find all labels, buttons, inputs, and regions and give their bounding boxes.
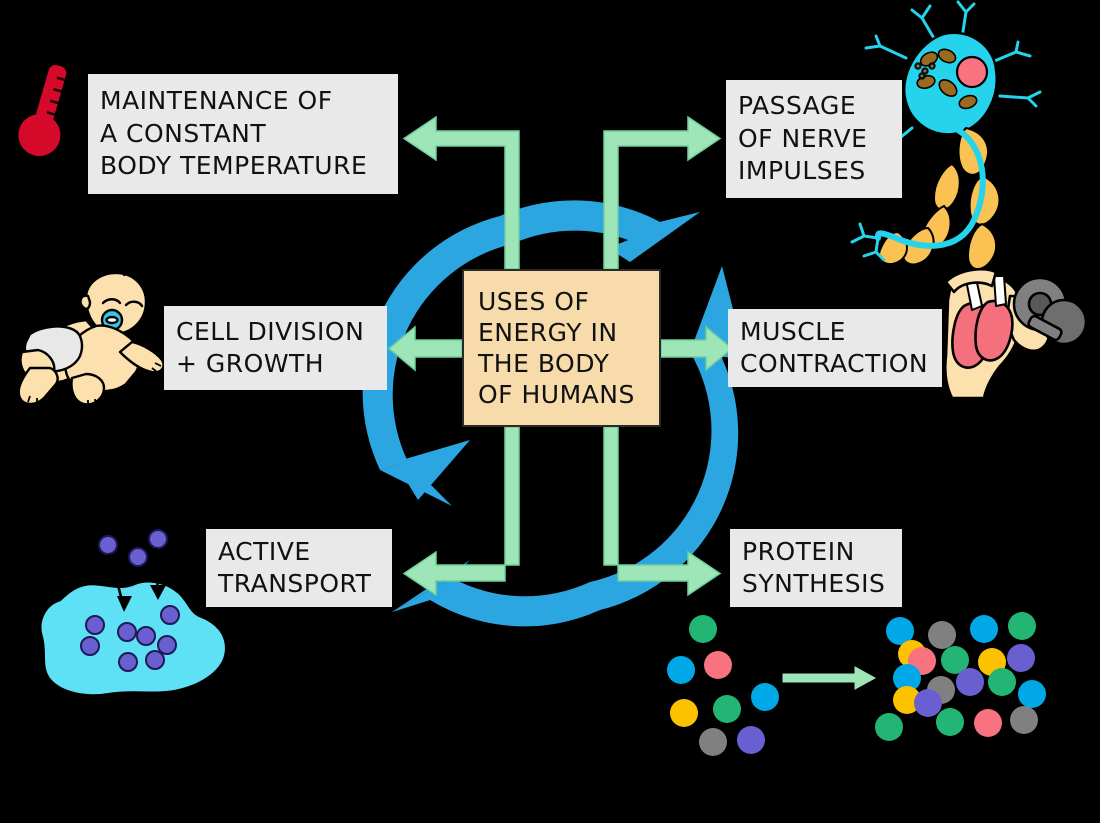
label-text-temperature: MAINTENANCE OF A CONSTANT BODY TEMPERATU… <box>100 85 386 183</box>
label-box-cell-division[interactable]: CELL DIVISION + GROWTH <box>164 306 387 390</box>
label-text-protein-synthesis: PROTEIN SYNTHESIS <box>742 536 890 601</box>
label-box-muscle-contraction[interactable]: MUSCLE CONTRACTION <box>728 309 942 387</box>
center-node-box[interactable]: USES OF ENERGY IN THE BODY OF HUMANS <box>462 269 661 427</box>
label-text-active-transport: ACTIVE TRANSPORT <box>218 536 380 601</box>
label-box-nerve-impulses[interactable]: PASSAGE OF NERVE IMPULSES <box>726 80 902 198</box>
assembled-protein <box>875 612 1046 741</box>
diagram-canvas: .garrow { fill:#9ee6b8; stroke:#6fcf9b; … <box>0 0 1100 823</box>
free-amino-acids <box>667 615 779 756</box>
synthesis-arrow <box>783 667 875 689</box>
label-text-cell-division: CELL DIVISION + GROWTH <box>176 316 375 381</box>
center-node-text: USES OF ENERGY IN THE BODY OF HUMANS <box>478 286 645 410</box>
label-box-protein-synthesis[interactable]: PROTEIN SYNTHESIS <box>730 529 902 607</box>
label-box-temperature[interactable]: MAINTENANCE OF A CONSTANT BODY TEMPERATU… <box>88 74 398 194</box>
label-text-muscle-contraction: MUSCLE CONTRACTION <box>740 316 930 381</box>
label-text-nerve-impulses: PASSAGE OF NERVE IMPULSES <box>738 90 890 188</box>
label-box-active-transport[interactable]: ACTIVE TRANSPORT <box>206 529 392 607</box>
